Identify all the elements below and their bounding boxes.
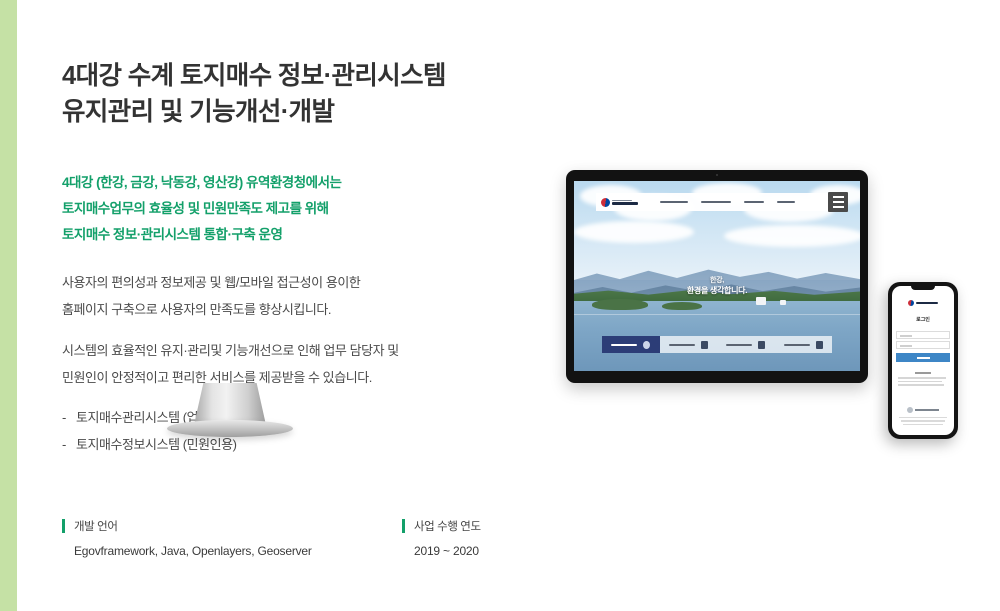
water-glint: [574, 314, 860, 315]
smartphone-mockup: 로그인: [888, 282, 958, 439]
riverside-building: [780, 300, 786, 305]
quicklink-label: [669, 344, 695, 346]
nav-item-notice-board[interactable]: [777, 201, 795, 203]
site-nav-menu: [660, 201, 795, 203]
media-icon: [816, 341, 823, 349]
quicklink-sale-application[interactable]: [660, 336, 718, 353]
quicklink-label: [784, 344, 810, 346]
phone-password-field[interactable]: [896, 341, 950, 349]
quicklink-map-service[interactable]: [602, 336, 660, 353]
site-logo-wordmark: [612, 200, 638, 205]
cloud-shape: [724, 225, 860, 247]
phone-footer-logo: [892, 407, 954, 413]
phone-notch: [911, 286, 935, 290]
nav-item-map-service[interactable]: [744, 201, 764, 203]
quicklink-label: [611, 344, 637, 346]
phone-login-title: 로그인: [892, 316, 954, 323]
monitor-stand-base: [167, 420, 293, 437]
hero-headline: 한강, 환경을 생각합니다.: [574, 276, 860, 296]
agency-logo-icon: [907, 407, 913, 413]
phone-notice-heading: [915, 372, 931, 374]
site-logo[interactable]: [601, 198, 638, 207]
islet-shape: [592, 299, 648, 310]
hamburger-menu-icon[interactable]: [828, 192, 848, 212]
islet-shape: [662, 302, 702, 310]
phone-footer-line: [899, 417, 947, 418]
phone-footer-line: [903, 424, 943, 425]
hero-headline-line-2: 환경을 생각합니다.: [574, 285, 860, 296]
desktop-monitor-mockup: 한강, 환경을 생각합니다.: [566, 170, 868, 383]
hero-headline-line-1: 한강,: [574, 276, 860, 285]
phone-footer-line: [901, 420, 945, 421]
cloud-shape: [574, 221, 694, 243]
agency-logo-wordmark: [915, 409, 939, 411]
phone-id-field[interactable]: [896, 331, 950, 339]
phone-footer: [892, 407, 954, 427]
quicklink-promotional-material[interactable]: [775, 336, 833, 353]
clipboard-icon: [758, 341, 765, 349]
phone-notice-line: [898, 377, 946, 379]
phone-screen: 로그인: [892, 286, 954, 435]
globe-icon: [643, 341, 650, 349]
phone-notice-block: [898, 372, 948, 388]
phone-login-button[interactable]: [896, 353, 950, 362]
site-header-bar: [596, 193, 838, 211]
phone-notice-line: [898, 384, 944, 386]
nav-item-eco-restoration-intro[interactable]: [701, 201, 731, 203]
quicklink-self-diagnosis[interactable]: [717, 336, 775, 353]
quick-link-bar: [602, 336, 832, 353]
taegeuk-icon: [601, 198, 610, 207]
document-icon: [701, 341, 708, 349]
riverside-building: [756, 297, 766, 305]
phone-logo-wordmark: [916, 302, 938, 304]
phone-notice-line: [898, 381, 942, 383]
phone-site-logo[interactable]: [892, 300, 954, 306]
nav-item-land-purchase-intro[interactable]: [660, 201, 688, 203]
quicklink-label: [726, 344, 752, 346]
taegeuk-icon: [908, 300, 914, 306]
device-mockup-group: 한강, 환경을 생각합니다.: [0, 0, 460, 611]
monitor-stand-neck: [194, 383, 266, 425]
monitor-screen: 한강, 환경을 생각합니다.: [574, 181, 860, 371]
webcam-icon: [716, 174, 718, 176]
